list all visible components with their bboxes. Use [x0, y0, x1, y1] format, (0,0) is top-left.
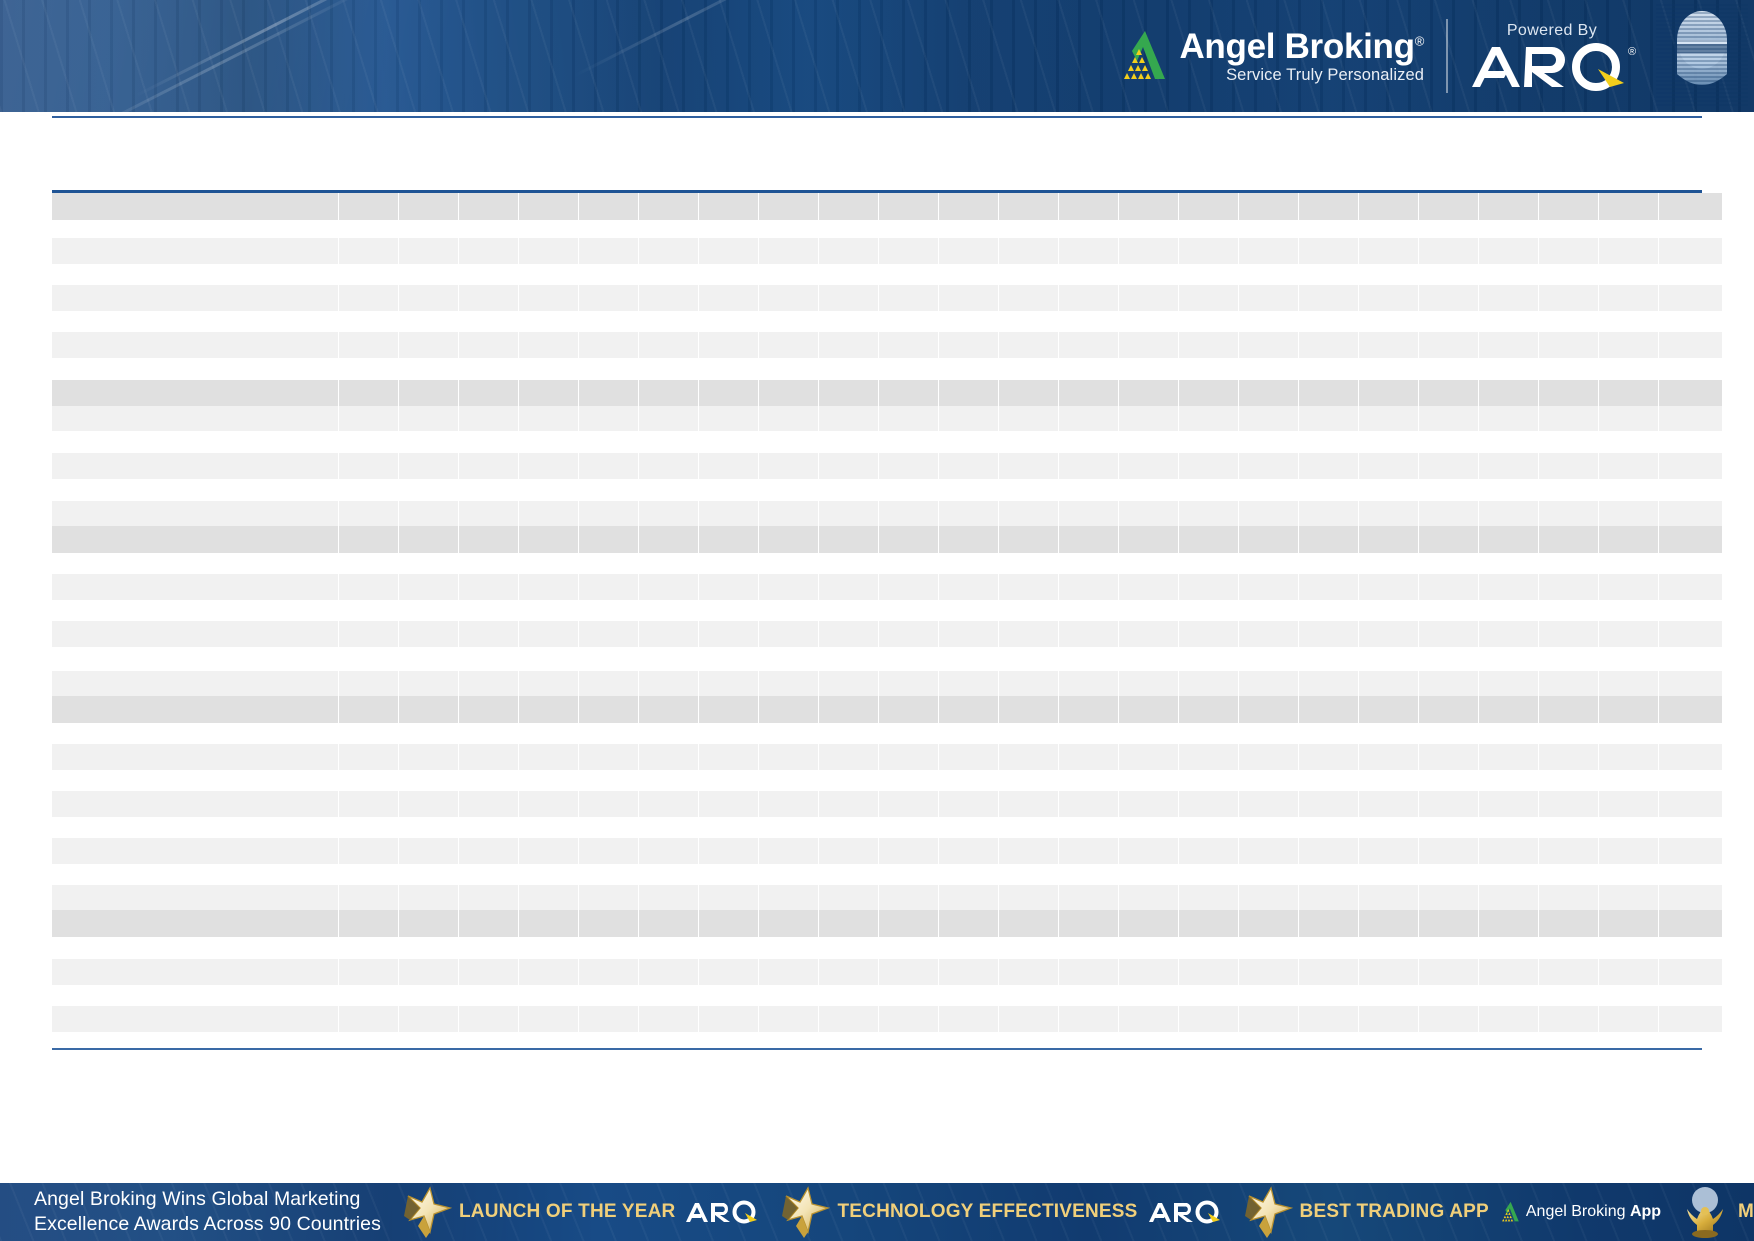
- table-cell: [1658, 838, 1722, 864]
- table-cell: [578, 621, 638, 647]
- table-cell: [458, 332, 518, 358]
- table-cell: [1538, 431, 1598, 453]
- table-cell: [338, 723, 398, 744]
- table-cell: [938, 380, 998, 406]
- table-cell: [338, 696, 398, 723]
- table-cell: [1598, 671, 1658, 696]
- table-cell: [52, 959, 338, 985]
- table-spacer-row: [52, 220, 1722, 238]
- table-cell: [1478, 220, 1538, 238]
- table-cell: [698, 817, 758, 838]
- registered-mark: ®: [1415, 33, 1424, 48]
- table-cell: [52, 985, 338, 1006]
- table-cell: [338, 985, 398, 1006]
- table-cell: [398, 453, 458, 479]
- table-cell: [758, 600, 818, 621]
- table-cell: [758, 358, 818, 380]
- table-cell: [458, 479, 518, 501]
- table-cell: [638, 453, 698, 479]
- table-cell: [52, 770, 338, 791]
- table-cell: [518, 1006, 578, 1032]
- table-cell: [52, 1006, 338, 1032]
- table-cell: [938, 238, 998, 264]
- award-badge[interactable]: BEST TRADING APP Angel Broking App: [1241, 1186, 1680, 1238]
- table-row[interactable]: [52, 453, 1722, 479]
- table-cell: [1538, 526, 1598, 553]
- table-cell: [1058, 238, 1118, 264]
- table-cell: [1658, 358, 1722, 380]
- table-cell: [998, 885, 1058, 910]
- table-cell: [1058, 285, 1118, 311]
- table-cell: [1178, 553, 1238, 574]
- table-cell: [458, 864, 518, 885]
- table-row[interactable]: [52, 621, 1722, 647]
- table-cell: [1358, 770, 1418, 791]
- table-cell: [458, 1006, 518, 1032]
- table-cell: [1538, 838, 1598, 864]
- table-cell: [1058, 744, 1118, 770]
- table-cell: [1118, 885, 1178, 910]
- table-cell: [938, 864, 998, 885]
- table-cell: [1238, 479, 1298, 501]
- table-cell: [1658, 864, 1722, 885]
- table-cell: [1118, 744, 1178, 770]
- table-cell: [1298, 285, 1358, 311]
- table-row[interactable]: [52, 959, 1722, 985]
- table-cell: [758, 501, 818, 526]
- table-cell: [1298, 380, 1358, 406]
- table-row[interactable]: [52, 744, 1722, 770]
- table-row[interactable]: [52, 838, 1722, 864]
- table-cell: [1658, 791, 1722, 817]
- table-cell: [1538, 1006, 1598, 1032]
- table-cell: [1058, 885, 1118, 910]
- table-cell: [878, 553, 938, 574]
- table-cell: [1358, 817, 1418, 838]
- table-cell: [938, 723, 998, 744]
- table-cell: [998, 723, 1058, 744]
- table-row[interactable]: [52, 285, 1722, 311]
- table-cell: [1118, 959, 1178, 985]
- table-cell: [1238, 864, 1298, 885]
- table-cell: [1238, 332, 1298, 358]
- table-cell: [878, 285, 938, 311]
- table-cell: [1358, 621, 1418, 647]
- table-cell: [518, 647, 578, 671]
- table-cell: [1478, 838, 1538, 864]
- table-cell: [998, 406, 1058, 431]
- table-cell: [398, 600, 458, 621]
- table-cell: [578, 1032, 638, 1046]
- table-cell: [1238, 937, 1298, 959]
- table-cell: [1058, 817, 1118, 838]
- table-cell: [1358, 696, 1418, 723]
- table-cell: [338, 311, 398, 332]
- table-cell: [1238, 885, 1298, 910]
- table-cell: [1478, 696, 1538, 723]
- table-cell: [1238, 453, 1298, 479]
- table-spacer-row: [52, 985, 1722, 1006]
- table-cell: [1418, 647, 1478, 671]
- table-cell: [998, 671, 1058, 696]
- table-cell: [1478, 910, 1538, 937]
- table-cell: [878, 406, 938, 431]
- table-row[interactable]: [52, 791, 1722, 817]
- table-cell: [758, 332, 818, 358]
- table-cell: [998, 770, 1058, 791]
- table-cell: [818, 453, 878, 479]
- table-section-row[interactable]: [52, 380, 1722, 406]
- table-cell: [1358, 553, 1418, 574]
- table-cell: [1598, 864, 1658, 885]
- table-header-cell: [698, 193, 758, 220]
- table-cell: [938, 220, 998, 238]
- table-cell: [698, 838, 758, 864]
- table-cell: [998, 501, 1058, 526]
- table-cell: [638, 332, 698, 358]
- table-cell: [398, 723, 458, 744]
- table-cell: [1538, 264, 1598, 285]
- table-cell: [52, 406, 338, 431]
- table-cell: [878, 600, 938, 621]
- award-badge[interactable]: LAUNCH OF THE YEAR: [400, 1186, 778, 1238]
- table-row[interactable]: [52, 671, 1722, 696]
- table-cell: [1298, 332, 1358, 358]
- table-cell: [1598, 910, 1658, 937]
- table-cell: [1058, 553, 1118, 574]
- table-cell: [818, 431, 878, 453]
- table-cell: [758, 380, 818, 406]
- table-cell: [1238, 647, 1298, 671]
- table-cell: [878, 671, 938, 696]
- table-cell: [578, 526, 638, 553]
- table-cell: [818, 910, 878, 937]
- table-cell: [818, 264, 878, 285]
- table-cell: [1598, 431, 1658, 453]
- table-cell: [1478, 358, 1538, 380]
- table-cell: [398, 285, 458, 311]
- table-cell: [878, 770, 938, 791]
- table-cell: [1298, 647, 1358, 671]
- table-cell: [698, 311, 758, 332]
- table-cell: [52, 937, 338, 959]
- table-cell: [518, 220, 578, 238]
- table-cell: [1118, 264, 1178, 285]
- table-section-row[interactable]: [52, 910, 1722, 937]
- table-cell: [1478, 723, 1538, 744]
- table-cell: [938, 985, 998, 1006]
- table-section-row[interactable]: [52, 696, 1722, 723]
- table-cell: [458, 647, 518, 671]
- table-cell: [1538, 621, 1598, 647]
- table-cell: [758, 220, 818, 238]
- table-cell: [1418, 838, 1478, 864]
- table-cell: [518, 332, 578, 358]
- table-cell: [1358, 311, 1418, 332]
- table-cell: [1238, 553, 1298, 574]
- brand-divider: [1446, 19, 1448, 93]
- angel-broking-pyramid-icon: [1498, 1201, 1520, 1223]
- table-cell: [518, 1032, 578, 1046]
- table-cell: [578, 479, 638, 501]
- table-cell: [638, 526, 698, 553]
- table-cell: [1118, 723, 1178, 744]
- table-cell: [1358, 791, 1418, 817]
- table-cell: [818, 744, 878, 770]
- table-body: [52, 193, 1722, 1046]
- table-cell: [338, 358, 398, 380]
- table-cell: [1058, 696, 1118, 723]
- table-cell: [1358, 358, 1418, 380]
- table-cell: [638, 959, 698, 985]
- table-cell: [758, 574, 818, 600]
- footer-headline: Angel Broking Wins Global Marketing Exce…: [0, 1187, 400, 1237]
- table-cell: [578, 431, 638, 453]
- table-cell: [1118, 910, 1178, 937]
- table-cell: [1058, 406, 1118, 431]
- table-cell: [518, 600, 578, 621]
- table-cell: [1478, 453, 1538, 479]
- table-cell: [518, 864, 578, 885]
- table-cell: [998, 220, 1058, 238]
- table-cell: [1418, 264, 1478, 285]
- table-header-cell: [1118, 193, 1178, 220]
- table-cell: [1178, 479, 1238, 501]
- table-cell: [398, 910, 458, 937]
- table-cell: [818, 220, 878, 238]
- table-cell: [1418, 817, 1478, 838]
- table-cell: [638, 817, 698, 838]
- table-cell: [998, 358, 1058, 380]
- table-cell: [938, 600, 998, 621]
- table-cell: [1298, 1006, 1358, 1032]
- table-cell: [1058, 311, 1118, 332]
- table-cell: [1118, 985, 1178, 1006]
- table-header-cell: [818, 193, 878, 220]
- table-cell: [1238, 744, 1298, 770]
- table-cell: [1358, 501, 1418, 526]
- table-cell: [1178, 311, 1238, 332]
- table-cell: [818, 238, 878, 264]
- table-cell: [1118, 600, 1178, 621]
- table-cell: [1178, 864, 1238, 885]
- brand-lockup: Angel Broking® Service Truly Personalize…: [1115, 0, 1754, 112]
- table-cell: [1178, 885, 1238, 910]
- table-cell: [1178, 910, 1238, 937]
- table-cell: [458, 406, 518, 431]
- table-cell: [878, 910, 938, 937]
- table-cell: [1118, 838, 1178, 864]
- table-cell: [52, 264, 338, 285]
- table-cell: [758, 959, 818, 985]
- header-light-streak: [136, 0, 405, 97]
- table-cell: [998, 910, 1058, 937]
- table-header-row[interactable]: [52, 193, 1722, 220]
- table-cell: [52, 479, 338, 501]
- table-cell: [1478, 553, 1538, 574]
- table-cell: [878, 744, 938, 770]
- brand-name-text: Angel Broking: [1179, 27, 1414, 66]
- table-cell: [1058, 621, 1118, 647]
- table-row[interactable]: [52, 406, 1722, 431]
- table-row[interactable]: [52, 574, 1722, 600]
- table-spacer-row: [52, 1032, 1722, 1046]
- table-header-cell: [998, 193, 1058, 220]
- table-cell: [1298, 358, 1358, 380]
- table-cell: [578, 723, 638, 744]
- table-cell: [638, 723, 698, 744]
- table-row[interactable]: [52, 332, 1722, 358]
- table-cell: [398, 621, 458, 647]
- table-cell: [998, 553, 1058, 574]
- table-cell: [578, 332, 638, 358]
- top-rule: [52, 116, 1702, 118]
- table-cell: [1058, 838, 1118, 864]
- table-cell: [1298, 479, 1358, 501]
- table-cell: [1298, 311, 1358, 332]
- table-cell: [1238, 1006, 1298, 1032]
- table-cell: [698, 864, 758, 885]
- table-cell: [1298, 744, 1358, 770]
- table-cell: [878, 791, 938, 817]
- table-cell: [1178, 770, 1238, 791]
- awards-footer-ribbon: Angel Broking Wins Global Marketing Exce…: [0, 1183, 1754, 1241]
- table-cell: [1238, 817, 1298, 838]
- table-cell: [638, 647, 698, 671]
- table-cell: [518, 453, 578, 479]
- table-cell: [458, 358, 518, 380]
- table-cell: [1058, 1032, 1118, 1046]
- table-cell: [1658, 723, 1722, 744]
- table-cell: [698, 264, 758, 285]
- table-cell: [518, 985, 578, 1006]
- table-cell: [938, 671, 998, 696]
- table-cell: [998, 985, 1058, 1006]
- table-cell: [1658, 479, 1722, 501]
- table-cell: [578, 838, 638, 864]
- table-cell: [758, 838, 818, 864]
- table-spacer-row: [52, 358, 1722, 380]
- table-cell: [1538, 910, 1598, 937]
- award-badge[interactable]: MASTER BRAND 2016 Angel Broking: [1679, 1185, 1754, 1239]
- table-cell: [1178, 431, 1238, 453]
- table-cell: [1478, 526, 1538, 553]
- table-cell: [1538, 311, 1598, 332]
- table-spacer-row: [52, 864, 1722, 885]
- table-cell: [1478, 264, 1538, 285]
- table-cell: [1178, 817, 1238, 838]
- table-cell: [638, 910, 698, 937]
- table-section-row[interactable]: [52, 526, 1722, 553]
- arq-logo-icon: ®: [1468, 41, 1636, 91]
- table-cell: [938, 553, 998, 574]
- table-cell: [638, 553, 698, 574]
- table-cell: [1178, 647, 1238, 671]
- table-row[interactable]: [52, 1006, 1722, 1032]
- table-cell: [398, 264, 458, 285]
- table-cell: [758, 285, 818, 311]
- table-cell: [638, 671, 698, 696]
- table-cell: [878, 723, 938, 744]
- table-cell: [818, 285, 878, 311]
- table-cell: [1658, 380, 1722, 406]
- award-badge[interactable]: TECHNOLOGY EFFECTIVENESS: [778, 1186, 1240, 1238]
- table-cell: [1358, 885, 1418, 910]
- page-header-band: Angel Broking® Service Truly Personalize…: [0, 0, 1754, 112]
- table-cell: [698, 501, 758, 526]
- table-cell: [938, 574, 998, 600]
- table-cell: [1058, 220, 1118, 238]
- table-row[interactable]: [52, 501, 1722, 526]
- table-cell: [1238, 220, 1298, 238]
- table-cell: [1538, 791, 1598, 817]
- table-header-cell: [1058, 193, 1118, 220]
- table-cell: [1238, 406, 1298, 431]
- table-cell: [1058, 574, 1118, 600]
- table-cell: [878, 501, 938, 526]
- table-cell: [1358, 985, 1418, 1006]
- table-cell: [818, 380, 878, 406]
- table-cell: [698, 723, 758, 744]
- table-cell: [638, 501, 698, 526]
- angel-broking-logo[interactable]: Angel Broking® Service Truly Personalize…: [1115, 29, 1442, 84]
- table-cell: [578, 647, 638, 671]
- table-cell: [758, 770, 818, 791]
- table-cell: [878, 985, 938, 1006]
- table-cell: [398, 885, 458, 910]
- table-cell: [1418, 332, 1478, 358]
- table-cell: [578, 770, 638, 791]
- table-cell: [1538, 358, 1598, 380]
- table-cell: [758, 479, 818, 501]
- table-cell: [1418, 864, 1478, 885]
- table-cell: [1358, 526, 1418, 553]
- arq-logo[interactable]: Powered By ®: [1468, 22, 1642, 91]
- table-cell: [638, 770, 698, 791]
- table-row[interactable]: [52, 238, 1722, 264]
- table-cell: [458, 285, 518, 311]
- table-cell: [1478, 1032, 1538, 1046]
- table-cell: [1358, 723, 1418, 744]
- table-cell: [1178, 501, 1238, 526]
- table-cell: [1118, 791, 1178, 817]
- table-cell: [1358, 937, 1418, 959]
- table-cell: [638, 621, 698, 647]
- table-cell: [1358, 744, 1418, 770]
- table-cell: [458, 910, 518, 937]
- table-cell: [458, 501, 518, 526]
- table-cell: [878, 332, 938, 358]
- table-cell: [758, 817, 818, 838]
- table-cell: [758, 885, 818, 910]
- table-cell: [578, 553, 638, 574]
- table-cell: [1178, 220, 1238, 238]
- table-cell: [1658, 770, 1722, 791]
- table-cell: [638, 744, 698, 770]
- table-row[interactable]: [52, 885, 1722, 910]
- table-cell: [1598, 526, 1658, 553]
- table-cell: [698, 553, 758, 574]
- table-cell: [518, 311, 578, 332]
- table-cell: [998, 647, 1058, 671]
- table-cell: [1538, 553, 1598, 574]
- table-cell: [1118, 358, 1178, 380]
- table-cell: [1058, 910, 1118, 937]
- table-cell: [1358, 431, 1418, 453]
- table-cell: [338, 1032, 398, 1046]
- table-cell: [578, 910, 638, 937]
- table-cell: [938, 264, 998, 285]
